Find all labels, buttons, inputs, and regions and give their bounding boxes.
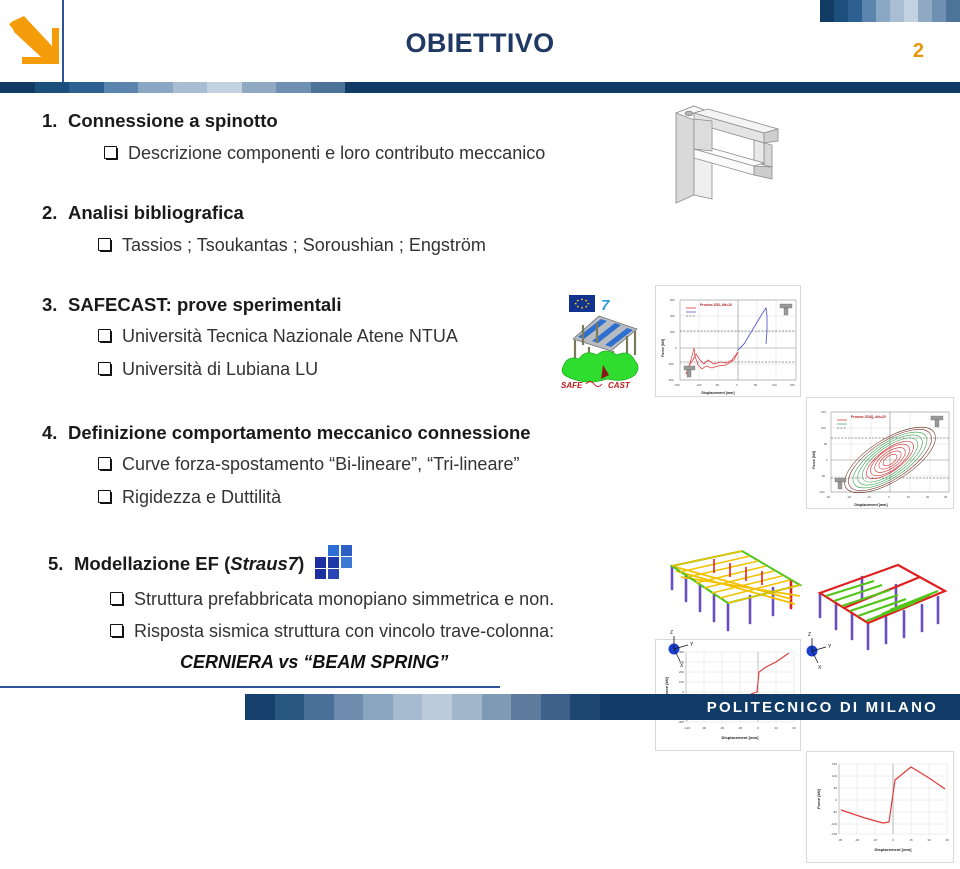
svg-text:-10: -10 [867, 495, 871, 499]
svg-text:X: X [680, 663, 684, 669]
svg-text:100: 100 [821, 426, 826, 430]
svg-text:Displacement [mm]: Displacement [mm] [722, 735, 760, 740]
chart-lu-cyclic: 15010050 0-50-100 -30-20-10 01020 30 Dis… [806, 397, 954, 509]
square-bullet-icon [110, 624, 123, 637]
svg-text:Displacement [mm]: Displacement [mm] [854, 503, 887, 507]
svg-text:50: 50 [754, 383, 758, 387]
svg-text:-30: -30 [855, 838, 860, 842]
outline-subitem-5-1: Struttura prefabbricata monopiano simmet… [110, 588, 554, 611]
svg-text:100: 100 [832, 774, 837, 778]
svg-text:Force [kN]: Force [kN] [661, 339, 665, 357]
outline-item-3: 3.SAFECAST: prove sperimentali [42, 293, 458, 316]
svg-text:30: 30 [944, 495, 948, 499]
svg-text:100: 100 [772, 383, 777, 387]
svg-text:-50: -50 [821, 474, 825, 478]
svg-text:0: 0 [826, 458, 828, 462]
axis-triad-right: Z Y X [807, 632, 833, 671]
outline-subitem-4-1: Curve forza-spostamento “Bi-lineare”, “T… [98, 453, 531, 476]
svg-text:-60: -60 [720, 726, 725, 730]
square-bullet-icon [98, 362, 111, 375]
safecast-wordmark-right: CAST [608, 381, 631, 390]
slide-content: 1.Connessione a spinotto Descrizione com… [0, 95, 960, 680]
square-bullet-icon [104, 146, 117, 159]
outline-subitem-3-2: Università di Lubiana LU [98, 358, 458, 381]
svg-text:Z: Z [808, 632, 811, 638]
outline-title-5-post: ) [298, 553, 304, 574]
svg-text:Y: Y [828, 644, 832, 650]
square-bullet-icon [98, 329, 111, 342]
svg-text:30: 30 [774, 726, 778, 730]
svg-text:Provino 2D3, ∆H=10: Provino 2D3, ∆H=10 [700, 303, 732, 307]
footer-gradient-blocks [245, 694, 600, 720]
header-gradient-blocks-bar [0, 82, 345, 93]
svg-text:-15: -15 [873, 838, 878, 842]
svg-text:150: 150 [821, 410, 826, 414]
svg-text:0: 0 [888, 495, 890, 499]
svg-text:-400: -400 [668, 378, 674, 382]
svg-text:Force [kN]: Force [kN] [816, 788, 821, 808]
outline-number-1: 1. [42, 109, 68, 132]
svg-text:50: 50 [834, 786, 838, 790]
straus7-logo-icon [314, 545, 354, 579]
svg-text:0: 0 [757, 726, 759, 730]
svg-text:60: 60 [792, 726, 796, 730]
outline-title-1: Connessione a spinotto [68, 110, 278, 131]
outline-subitem-label: Università Tecnica Nazionale Atene NTUA [122, 326, 458, 346]
svg-text:-100: -100 [831, 822, 837, 826]
svg-text:45: 45 [945, 838, 949, 842]
outline-subitem-4-2: Rigidezza e Duttilità [98, 486, 531, 509]
chart-trilinear-curve: 15010050 0-50-100 -150 -45-30-15 01530 4… [806, 751, 954, 863]
safecast-project-logo: 7 SAFE CAST [545, 291, 645, 391]
outline-group-2: 2.Analisi bibliografica Tassios ; Tsouka… [42, 201, 486, 258]
outline-item-2: 2.Analisi bibliografica [42, 201, 486, 224]
svg-text:-120: -120 [684, 726, 690, 730]
axis-triad-left: Z Y X [669, 630, 695, 669]
svg-text:-100: -100 [696, 383, 702, 387]
svg-text:10: 10 [907, 495, 911, 499]
outline-subitem-3-1: Università Tecnica Nazionale Atene NTUA [98, 325, 458, 348]
outline-subitem-label: Università di Lubiana LU [122, 359, 318, 379]
svg-text:-200: -200 [668, 362, 674, 366]
outline-subitem-label: Descrizione componenti e loro contributo… [128, 143, 545, 163]
svg-text:200: 200 [670, 330, 675, 334]
outline-group-3: 3.SAFECAST: prove sperimentali Universit… [42, 293, 458, 381]
outline-number-2: 2. [42, 201, 68, 224]
svg-text:15: 15 [909, 838, 913, 842]
svg-text:-300: -300 [678, 720, 684, 724]
outline-subitem-5-2: Risposta sismica struttura con vincolo t… [110, 620, 554, 643]
outline-subitem-label: Curve forza-spostamento “Bi-lineare”, “T… [122, 454, 519, 474]
square-bullet-icon [110, 592, 123, 605]
header-gradient-blocks-top-right [820, 0, 960, 22]
svg-text:7: 7 [601, 297, 610, 314]
outline-item-1: 1.Connessione a spinotto [42, 109, 545, 132]
straus7-frame-model-symmetric: Z Y X [650, 533, 810, 675]
page-number: 2 [913, 40, 924, 63]
safecast-wordmark-left: SAFE [561, 381, 583, 390]
outline-title-5-pre: Modellazione EF ( [74, 553, 230, 574]
outline-number-4: 4. [42, 421, 68, 444]
svg-text:50: 50 [824, 442, 828, 446]
outline-subitem-label: Rigidezza e Duttilità [122, 487, 281, 507]
svg-text:0: 0 [892, 838, 894, 842]
outline-subitem-1-1: Descrizione componenti e loro contributo… [104, 142, 545, 165]
svg-text:-30: -30 [826, 495, 830, 499]
svg-text:-20: -20 [847, 495, 851, 499]
svg-text:-150: -150 [831, 832, 837, 836]
svg-text:-50: -50 [833, 810, 838, 814]
svg-text:-45: -45 [838, 838, 843, 842]
svg-text:-30: -30 [738, 726, 743, 730]
outline-title-2: Analisi bibliografica [68, 202, 244, 223]
outline-number-3: 3. [42, 293, 68, 316]
svg-text:400: 400 [670, 314, 675, 318]
svg-text:Force [kN]: Force [kN] [812, 451, 816, 469]
page-title: OBIETTIVO [0, 28, 960, 59]
svg-text:30: 30 [927, 838, 931, 842]
svg-text:600: 600 [670, 298, 675, 302]
svg-text:0: 0 [835, 798, 837, 802]
outline-title-5-emphasis: Straus7 [230, 553, 298, 574]
outline-subitem-label: Struttura prefabbricata monopiano simmet… [134, 589, 554, 609]
straus7-frame-model-asymmetric: Z Y X [800, 533, 960, 675]
outline-number-5: 5. [48, 552, 74, 575]
outline-title-3: SAFECAST: prove sperimentali [68, 294, 341, 315]
svg-text:Displacement [mm]: Displacement [mm] [701, 391, 734, 395]
square-bullet-icon [98, 490, 111, 503]
outline-title-4: Definizione comportamento meccanico conn… [68, 422, 531, 443]
outline-group-5: 5.Modellazione EF (Straus7) Struttura pr… [48, 545, 554, 644]
outline-subitem-label: Risposta sismica struttura con vincolo t… [134, 621, 554, 641]
outline-subitem-label: Tassios ; Tsoukantas ; Soroushian ; Engs… [122, 235, 486, 255]
svg-text:0: 0 [736, 383, 738, 387]
outline-item-4: 4.Definizione comportamento meccanico co… [42, 421, 531, 444]
outline-group-1: 1.Connessione a spinotto Descrizione com… [42, 109, 545, 166]
precast-beam-column-connection-3d-render [648, 95, 848, 210]
svg-text:150: 150 [832, 762, 837, 766]
svg-text:-100: -100 [819, 490, 825, 494]
square-bullet-icon [98, 238, 111, 251]
svg-text:Displacement [mm]: Displacement [mm] [875, 847, 913, 852]
footer-organization-name: POLITECNICO DI MILANO [707, 699, 938, 716]
svg-text:100: 100 [679, 680, 684, 684]
conclusion-note: CERNIERA vs “BEAM SPRING” [180, 652, 448, 673]
chart-ntua-monotonic: 600400200 0-200-400 -150-100-50 050100 1… [655, 285, 801, 397]
svg-text:X: X [818, 665, 822, 671]
svg-text:Z: Z [670, 630, 673, 636]
svg-text:-90: -90 [702, 726, 707, 730]
outline-item-5: 5.Modellazione EF (Straus7) [48, 545, 554, 579]
outline-group-4: 4.Definizione comportamento meccanico co… [42, 421, 531, 509]
outline-subitem-2-1: Tassios ; Tsoukantas ; Soroushian ; Engs… [98, 234, 486, 257]
svg-text:0: 0 [675, 346, 677, 350]
svg-text:20: 20 [926, 495, 930, 499]
square-bullet-icon [98, 457, 111, 470]
svg-text:150: 150 [790, 383, 795, 387]
svg-text:-150: -150 [674, 383, 680, 387]
slide-root: OBIETTIVO 2 1.Connessione a spinotto Des… [0, 0, 960, 720]
footer-divider-line [0, 686, 500, 688]
svg-text:Provino 2D3Q, ∆H=25: Provino 2D3Q, ∆H=25 [851, 415, 886, 419]
svg-text:-50: -50 [715, 383, 719, 387]
svg-text:Y: Y [690, 642, 694, 648]
